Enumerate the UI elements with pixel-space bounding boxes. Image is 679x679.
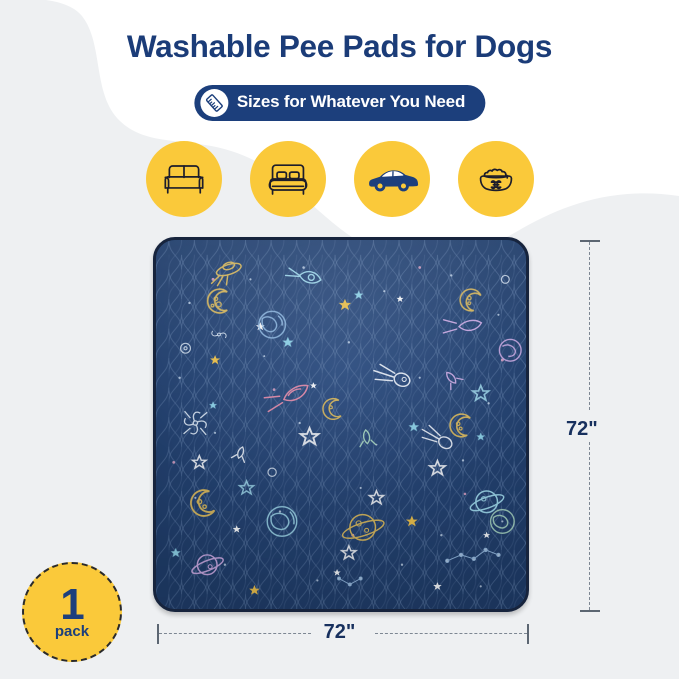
- product-infographic: Washable Pee Pads for Dogs Sizes for Wha…: [0, 0, 679, 679]
- space-motifs: [156, 240, 526, 609]
- use-case-dog-bowl: [458, 141, 534, 217]
- product-image: [153, 237, 529, 612]
- pack-count-badge: 1 pack: [22, 562, 122, 662]
- ruler-icon: [200, 89, 228, 117]
- use-case-bed: [250, 141, 326, 217]
- use-case-sofa: [146, 141, 222, 217]
- use-case-car: [354, 141, 430, 217]
- dimension-height-label: 72": [566, 418, 598, 441]
- page-title: Washable Pee Pads for Dogs: [0, 28, 679, 65]
- pee-pad: [153, 237, 529, 612]
- pack-count-unit: pack: [55, 624, 89, 639]
- badge-label: Sizes for Whatever You Need: [237, 92, 465, 112]
- pack-count-number: 1: [60, 587, 83, 623]
- use-case-icon-row: [0, 141, 679, 217]
- status-badge: Sizes for Whatever You Need: [194, 85, 485, 121]
